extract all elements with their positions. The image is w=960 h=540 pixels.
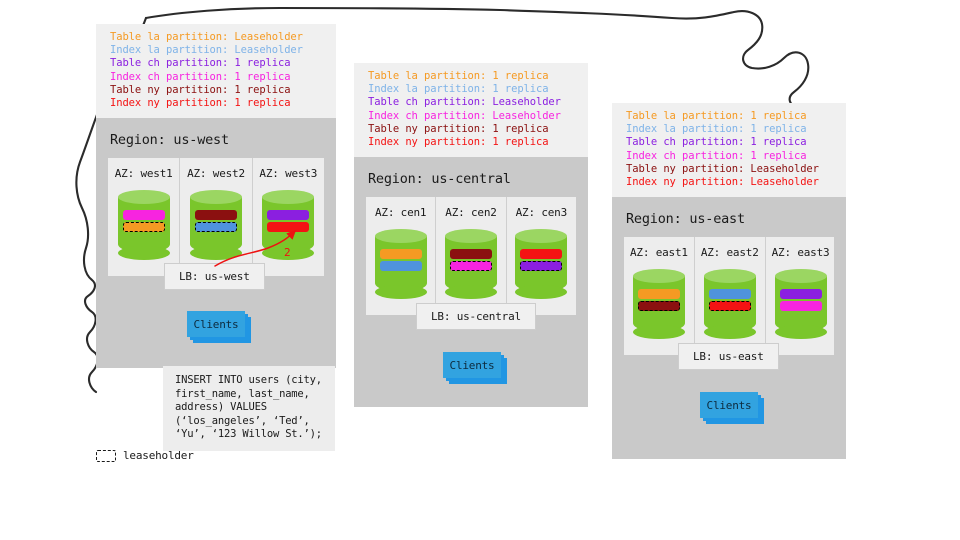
database-cylinder-east2[interactable] bbox=[704, 269, 756, 339]
az-label: AZ: cen2 bbox=[445, 206, 496, 219]
partition-line: Table ny partition: 1 replica bbox=[368, 123, 574, 136]
database-cylinder-cen3[interactable] bbox=[515, 229, 567, 299]
range-bar-index-ny bbox=[267, 222, 309, 232]
range-bars bbox=[780, 289, 822, 311]
az-row-us-east: AZ: east1 AZ: east2 bbox=[624, 237, 834, 355]
range-bar-index-la bbox=[709, 289, 751, 299]
az-row-us-west: AZ: west1 AZ: west2 bbox=[108, 158, 324, 276]
partition-line: Table ch partition: 1 replica bbox=[626, 136, 832, 149]
az-label: AZ: cen3 bbox=[516, 206, 567, 219]
clients-us-central[interactable]: Clients bbox=[443, 352, 501, 378]
annotation-step-number-2: 2 bbox=[284, 246, 291, 259]
range-bar-index-ch bbox=[780, 301, 822, 311]
partition-panel-us-east: Table la partition: 1 replica Index la p… bbox=[612, 103, 846, 197]
cylinder-bottom bbox=[118, 246, 170, 260]
az-label: AZ: cen1 bbox=[375, 206, 426, 219]
range-bars bbox=[267, 210, 309, 232]
az-cell-east2[interactable]: AZ: east2 bbox=[695, 237, 766, 355]
database-cylinder-cen1[interactable] bbox=[375, 229, 427, 299]
range-bars bbox=[195, 210, 237, 232]
partition-line: Index la partition: 1 replica bbox=[368, 83, 574, 96]
az-label: AZ: west2 bbox=[187, 167, 245, 180]
partition-panel-us-west: Table la partition: Leaseholder Index la… bbox=[96, 24, 336, 118]
range-bar-table-ch-leaseholder bbox=[520, 261, 562, 271]
range-bar-index-ch-leaseholder bbox=[450, 261, 492, 271]
partition-panel-us-central: Table la partition: 1 replica Index la p… bbox=[354, 63, 588, 157]
load-balancer-us-east[interactable]: LB: us-east bbox=[678, 343, 779, 370]
range-bar-table-la-leaseholder bbox=[123, 222, 165, 232]
database-cylinder-east3[interactable] bbox=[775, 269, 827, 339]
az-cell-west2[interactable]: AZ: west2 bbox=[180, 158, 252, 276]
az-label: AZ: west3 bbox=[259, 167, 317, 180]
range-bar-table-ny bbox=[450, 249, 492, 259]
range-bars bbox=[638, 289, 680, 311]
range-bars bbox=[380, 249, 422, 271]
range-bar-table-ny-leaseholder bbox=[638, 301, 680, 311]
database-cylinder-east1[interactable] bbox=[633, 269, 685, 339]
range-bar-index-ch bbox=[123, 210, 165, 220]
range-bar-index-ny bbox=[520, 249, 562, 259]
az-label: AZ: east3 bbox=[772, 246, 830, 259]
range-bars bbox=[450, 249, 492, 271]
database-cylinder-cen2[interactable] bbox=[445, 229, 497, 299]
partition-line: Index ny partition: 1 replica bbox=[368, 136, 574, 149]
cylinder-bottom bbox=[375, 285, 427, 299]
legend-leaseholder: leaseholder bbox=[96, 449, 194, 462]
clients-label[interactable]: Clients bbox=[443, 352, 501, 378]
az-label: AZ: east1 bbox=[630, 246, 688, 259]
clients-label[interactable]: Clients bbox=[700, 392, 758, 418]
az-cell-cen3[interactable]: AZ: cen3 bbox=[507, 197, 576, 315]
region-title: Region: us-east bbox=[626, 211, 834, 227]
cylinder-top bbox=[775, 269, 827, 283]
clients-label[interactable]: Clients bbox=[187, 311, 245, 337]
cylinder-bottom bbox=[633, 325, 685, 339]
partition-line: Table ny partition: 1 replica bbox=[110, 84, 322, 97]
partition-line: Index ch partition: 1 replica bbox=[110, 71, 322, 84]
partition-line: Index ch partition: Leaseholder bbox=[368, 110, 574, 123]
partition-line: Table ny partition: Leaseholder bbox=[626, 163, 832, 176]
partition-line: Table la partition: Leaseholder bbox=[110, 31, 322, 44]
az-cell-cen2[interactable]: AZ: cen2 bbox=[436, 197, 506, 315]
leaseholder-swatch-icon bbox=[96, 450, 116, 462]
cylinder-bottom bbox=[515, 285, 567, 299]
range-bar-table-la bbox=[380, 249, 422, 259]
az-cell-east1[interactable]: AZ: east1 bbox=[624, 237, 695, 355]
cylinder-bottom bbox=[190, 246, 242, 260]
partition-line: Table ch partition: Leaseholder bbox=[368, 96, 574, 109]
range-bars bbox=[709, 289, 751, 311]
clients-us-east[interactable]: Clients bbox=[700, 392, 758, 418]
cylinder-bottom bbox=[775, 325, 827, 339]
partition-line: Table la partition: 1 replica bbox=[368, 70, 574, 83]
range-bars bbox=[520, 249, 562, 271]
range-bar-index-la bbox=[380, 261, 422, 271]
sql-insert-statement: INSERT INTO users (city, first_name, las… bbox=[163, 366, 335, 451]
region-title: Region: us-central bbox=[368, 171, 576, 187]
range-bar-table-ny bbox=[195, 210, 237, 220]
partition-line: Table ch partition: 1 replica bbox=[110, 57, 322, 70]
legend-label: leaseholder bbox=[123, 449, 194, 462]
load-balancer-us-west[interactable]: LB: us-west bbox=[164, 263, 265, 290]
range-bar-table-ch bbox=[780, 289, 822, 299]
range-bar-index-ny-leaseholder bbox=[709, 301, 751, 311]
cylinder-bottom bbox=[445, 285, 497, 299]
az-label: AZ: west1 bbox=[115, 167, 173, 180]
az-label: AZ: east2 bbox=[701, 246, 759, 259]
az-cell-cen1[interactable]: AZ: cen1 bbox=[366, 197, 436, 315]
az-row-us-central: AZ: cen1 AZ: cen2 bbox=[366, 197, 576, 315]
partition-line: Index ch partition: 1 replica bbox=[626, 150, 832, 163]
database-cylinder-west1[interactable] bbox=[118, 190, 170, 260]
az-cell-west1[interactable]: AZ: west1 bbox=[108, 158, 180, 276]
range-bars bbox=[123, 210, 165, 232]
az-cell-east3[interactable]: AZ: east3 bbox=[766, 237, 836, 355]
partition-line: Index la partition: 1 replica bbox=[626, 123, 832, 136]
partition-line: Index la partition: Leaseholder bbox=[110, 44, 322, 57]
partition-line: Table la partition: 1 replica bbox=[626, 110, 832, 123]
region-title: Region: us-west bbox=[110, 132, 324, 148]
range-bar-table-la bbox=[638, 289, 680, 299]
partition-line: Index ny partition: Leaseholder bbox=[626, 176, 832, 189]
clients-us-west[interactable]: Clients bbox=[187, 311, 245, 337]
range-bar-table-ch bbox=[267, 210, 309, 220]
database-cylinder-west2[interactable] bbox=[190, 190, 242, 260]
partition-line: Index ny partition: 1 replica bbox=[110, 97, 322, 110]
range-bar-index-la-leaseholder bbox=[195, 222, 237, 232]
cylinder-bottom bbox=[704, 325, 756, 339]
load-balancer-us-central[interactable]: LB: us-central bbox=[416, 303, 536, 330]
